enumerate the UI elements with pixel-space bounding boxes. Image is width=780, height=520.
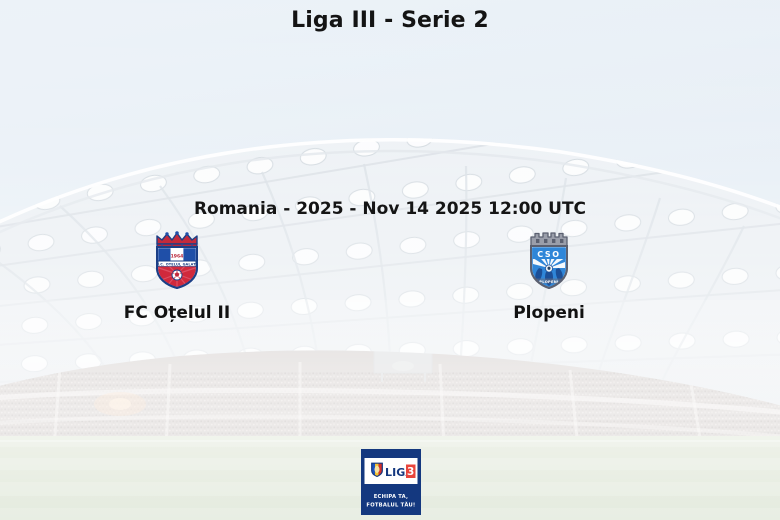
match-subtitle: Romania - 2025 - Nov 14 2025 12:00 UTC (0, 199, 780, 219)
home-crest-founded: 1964 (171, 254, 184, 260)
away-crest-initials: CSO (537, 250, 560, 259)
liga-number: 3 (407, 466, 414, 478)
liga-3-badge: LIGA 3 ECHIPA TA, FOTBALUL TĂU! (361, 449, 421, 515)
away-team-name: Plopeni (429, 303, 669, 323)
page-title: Liga III - Serie 2 (0, 8, 780, 33)
liga-tagline-line2: FOTBALUL TĂU! (366, 502, 415, 509)
home-team-name: FC Oțelul II (57, 303, 297, 323)
home-crest-banner: F.C. OTELUL GALATI (157, 262, 197, 266)
away-crest-wrapper: CSO PLOPENI (429, 228, 669, 292)
away-crest-banner: PLOPENI (539, 280, 558, 284)
fc-otelul-galati-crest: 1964 F.C. OTELUL GALATI (145, 228, 209, 292)
home-crest-wrapper: 1964 F.C. OTELUL GALATI (57, 228, 297, 292)
away-team-block: CSO PLOPENI Plopeni (429, 228, 669, 323)
liga-tagline-line1: ECHIPA TA, (374, 494, 408, 500)
home-team-block: 1964 F.C. OTELUL GALATI (57, 228, 297, 323)
match-preview-canvas: Liga III - Serie 2 Romania - 2025 - Nov … (0, 0, 780, 520)
cso-plopeni-crest: CSO PLOPENI (517, 228, 581, 292)
